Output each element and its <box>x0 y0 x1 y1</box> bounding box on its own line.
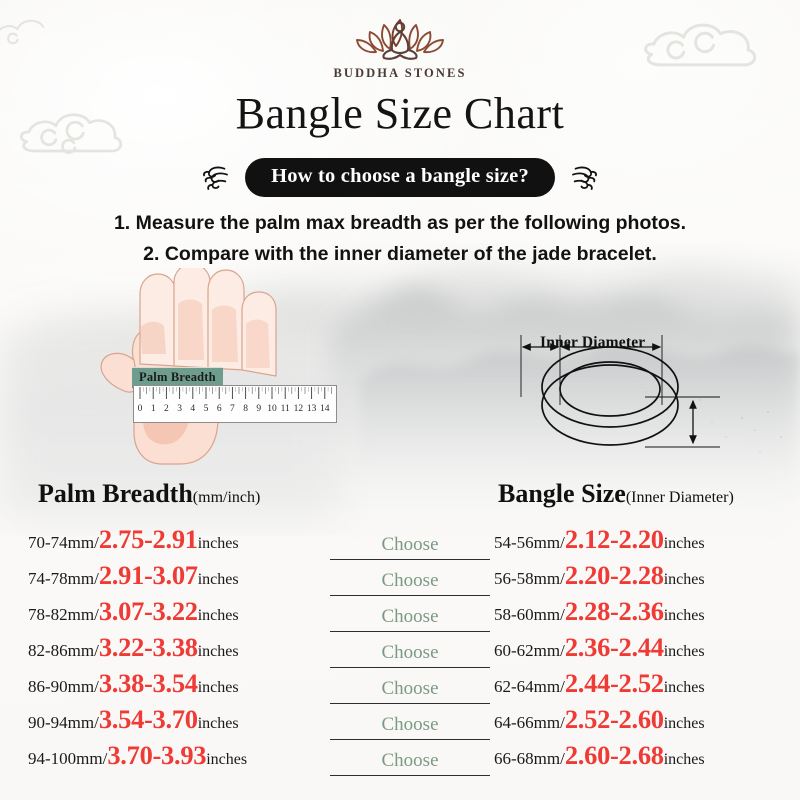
row-inches: 2.75-2.91 <box>99 524 198 555</box>
choose-underline <box>330 703 490 704</box>
choose-underline <box>330 739 490 740</box>
choose-underline <box>330 595 490 596</box>
row-mm: 82-86mm <box>28 641 94 661</box>
svg-text:14: 14 <box>320 404 330 414</box>
row-mm: 54-56mm <box>494 533 560 553</box>
row-inches: 3.22-3.38 <box>99 632 198 663</box>
subtitle-pill-row: How to choose a bangle size? <box>0 158 800 197</box>
palm-breadth-column-header: Palm Breadth(mm/inch) <box>38 479 260 509</box>
svg-text:4: 4 <box>190 404 195 414</box>
svg-text:6: 6 <box>217 404 222 414</box>
choose-cell[interactable]: Choose <box>330 740 490 776</box>
row-mm: 64-66mm <box>494 713 560 733</box>
row-mm: 86-90mm <box>28 677 94 697</box>
row-unit: inches <box>198 535 239 553</box>
instruction-step-1: 1. Measure the palm max breadth as per t… <box>0 208 800 239</box>
table-row: 64-66mm/2.52-2.60inches <box>490 704 790 740</box>
choose-underline <box>330 559 490 560</box>
table-row: 62-64mm/2.44-2.52inches <box>490 668 790 704</box>
row-unit: inches <box>198 643 239 661</box>
row-mm: 60-62mm <box>494 641 560 661</box>
row-mm: 70-74mm <box>28 533 94 553</box>
choose-label[interactable]: Choose <box>382 714 439 736</box>
bangle-size-table: 54-56mm/2.12-2.20inches 56-58mm/2.20-2.2… <box>490 524 790 776</box>
bangle-size-header-title: Bangle Size <box>498 479 626 508</box>
bangle-size-column-header: Bangle Size(Inner Diameter) <box>498 479 734 509</box>
table-row: 56-58mm/2.20-2.28inches <box>490 560 790 596</box>
row-unit: inches <box>664 643 705 661</box>
row-mm: 66-68mm <box>494 749 560 769</box>
table-row: 58-60mm/2.28-2.36inches <box>490 596 790 632</box>
svg-text:12: 12 <box>294 404 304 414</box>
row-inches: 3.38-3.54 <box>99 668 198 699</box>
page-title: Bangle Size Chart <box>0 88 800 139</box>
table-row: 74-78mm/2.91-3.07inches <box>18 560 348 596</box>
choose-label[interactable]: Choose <box>382 642 439 664</box>
row-unit: inches <box>198 715 239 733</box>
svg-text:13: 13 <box>307 404 317 414</box>
choose-cell[interactable]: Choose <box>330 632 490 668</box>
palm-breadth-header-unit: (mm/inch) <box>193 489 261 506</box>
row-inches: 2.12-2.20 <box>565 524 664 555</box>
table-row: 86-90mm/3.38-3.54inches <box>18 668 348 704</box>
row-unit: inches <box>664 535 705 553</box>
row-inches: 2.91-3.07 <box>99 560 198 591</box>
choose-underline <box>330 631 490 632</box>
ruler-illustration: 0 1 2 3 4 5 6 7 8 9 10 11 12 13 14 <box>133 385 337 423</box>
row-unit: inches <box>664 751 705 769</box>
lotus-meditation-logo-icon <box>340 8 460 64</box>
row-unit: inches <box>664 571 705 589</box>
table-row: 82-86mm/3.22-3.38inches <box>18 632 348 668</box>
svg-text:2: 2 <box>164 404 169 414</box>
row-inches: 2.52-2.60 <box>565 704 664 735</box>
row-unit: inches <box>664 715 705 733</box>
row-mm: 78-82mm <box>28 605 94 625</box>
table-row: 90-94mm/3.54-3.70inches <box>18 704 348 740</box>
row-mm: 90-94mm <box>28 713 94 733</box>
choose-cell[interactable]: Choose <box>330 560 490 596</box>
svg-text:9: 9 <box>256 404 261 414</box>
row-inches: 2.60-2.68 <box>565 740 664 771</box>
choose-label[interactable]: Choose <box>382 606 439 628</box>
row-mm: 62-64mm <box>494 677 560 697</box>
cloud-swirl-ornament-left-icon <box>199 161 233 195</box>
row-inches: 3.70-3.93 <box>107 740 206 771</box>
table-row: 78-82mm/3.07-3.22inches <box>18 596 348 632</box>
brand-name: BUDDHA STONES <box>333 66 466 81</box>
table-row: 66-68mm/2.60-2.68inches <box>490 740 790 776</box>
row-inches: 2.36-2.44 <box>565 632 664 663</box>
row-unit: inches <box>198 571 239 589</box>
table-row: 94-100mm/3.70-3.93inches <box>18 740 348 776</box>
row-unit: inches <box>198 679 239 697</box>
row-inches: 2.20-2.28 <box>565 560 664 591</box>
palm-breadth-header-title: Palm Breadth <box>38 479 193 508</box>
subtitle-pill: How to choose a bangle size? <box>245 158 555 197</box>
choose-cell[interactable]: Choose <box>330 524 490 560</box>
choose-cell[interactable]: Choose <box>330 704 490 740</box>
row-unit: inches <box>664 607 705 625</box>
choose-label[interactable]: Choose <box>382 750 439 772</box>
row-inches: 2.44-2.52 <box>565 668 664 699</box>
row-mm: 58-60mm <box>494 605 560 625</box>
svg-text:0: 0 <box>138 404 143 414</box>
svg-text:10: 10 <box>267 404 277 414</box>
brand-logo: BUDDHA STONES <box>0 8 800 81</box>
choose-label[interactable]: Choose <box>382 678 439 700</box>
row-unit: inches <box>198 607 239 625</box>
svg-text:8: 8 <box>243 404 248 414</box>
table-row: 54-56mm/2.12-2.20inches <box>490 524 790 560</box>
row-inches: 2.28-2.36 <box>565 596 664 627</box>
choose-column: Choose Choose Choose Choose Choose Choos… <box>330 524 490 776</box>
svg-text:1: 1 <box>151 404 156 414</box>
choose-label[interactable]: Choose <box>382 534 439 556</box>
svg-text:7: 7 <box>230 404 235 414</box>
cloud-swirl-ornament-right-icon <box>567 161 601 195</box>
row-inches: 3.54-3.70 <box>99 704 198 735</box>
palm-breadth-table: 70-74mm/2.75-2.91inches 74-78mm/2.91-3.0… <box>18 524 348 776</box>
svg-text:11: 11 <box>281 404 290 414</box>
instruction-step-2: 2. Compare with the inner diameter of th… <box>0 239 800 270</box>
table-row: 60-62mm/2.36-2.44inches <box>490 632 790 668</box>
bangle-diagram <box>505 325 730 465</box>
row-mm: 94-100mm <box>28 749 103 769</box>
row-mm: 56-58mm <box>494 569 560 589</box>
row-unit: inches <box>664 679 705 697</box>
row-inches: 3.07-3.22 <box>99 596 198 627</box>
bangle-size-header-unit: (Inner Diameter) <box>626 489 734 506</box>
choose-cell[interactable]: Choose <box>330 596 490 632</box>
svg-text:3: 3 <box>177 404 182 414</box>
instruction-steps: 1. Measure the palm max breadth as per t… <box>0 208 800 270</box>
choose-cell[interactable]: Choose <box>330 668 490 704</box>
table-row: 70-74mm/2.75-2.91inches <box>18 524 348 560</box>
choose-underline <box>330 667 490 668</box>
choose-label[interactable]: Choose <box>382 570 439 592</box>
row-unit: inches <box>206 751 247 769</box>
choose-underline <box>330 775 490 776</box>
row-mm: 74-78mm <box>28 569 94 589</box>
svg-text:5: 5 <box>204 404 209 414</box>
